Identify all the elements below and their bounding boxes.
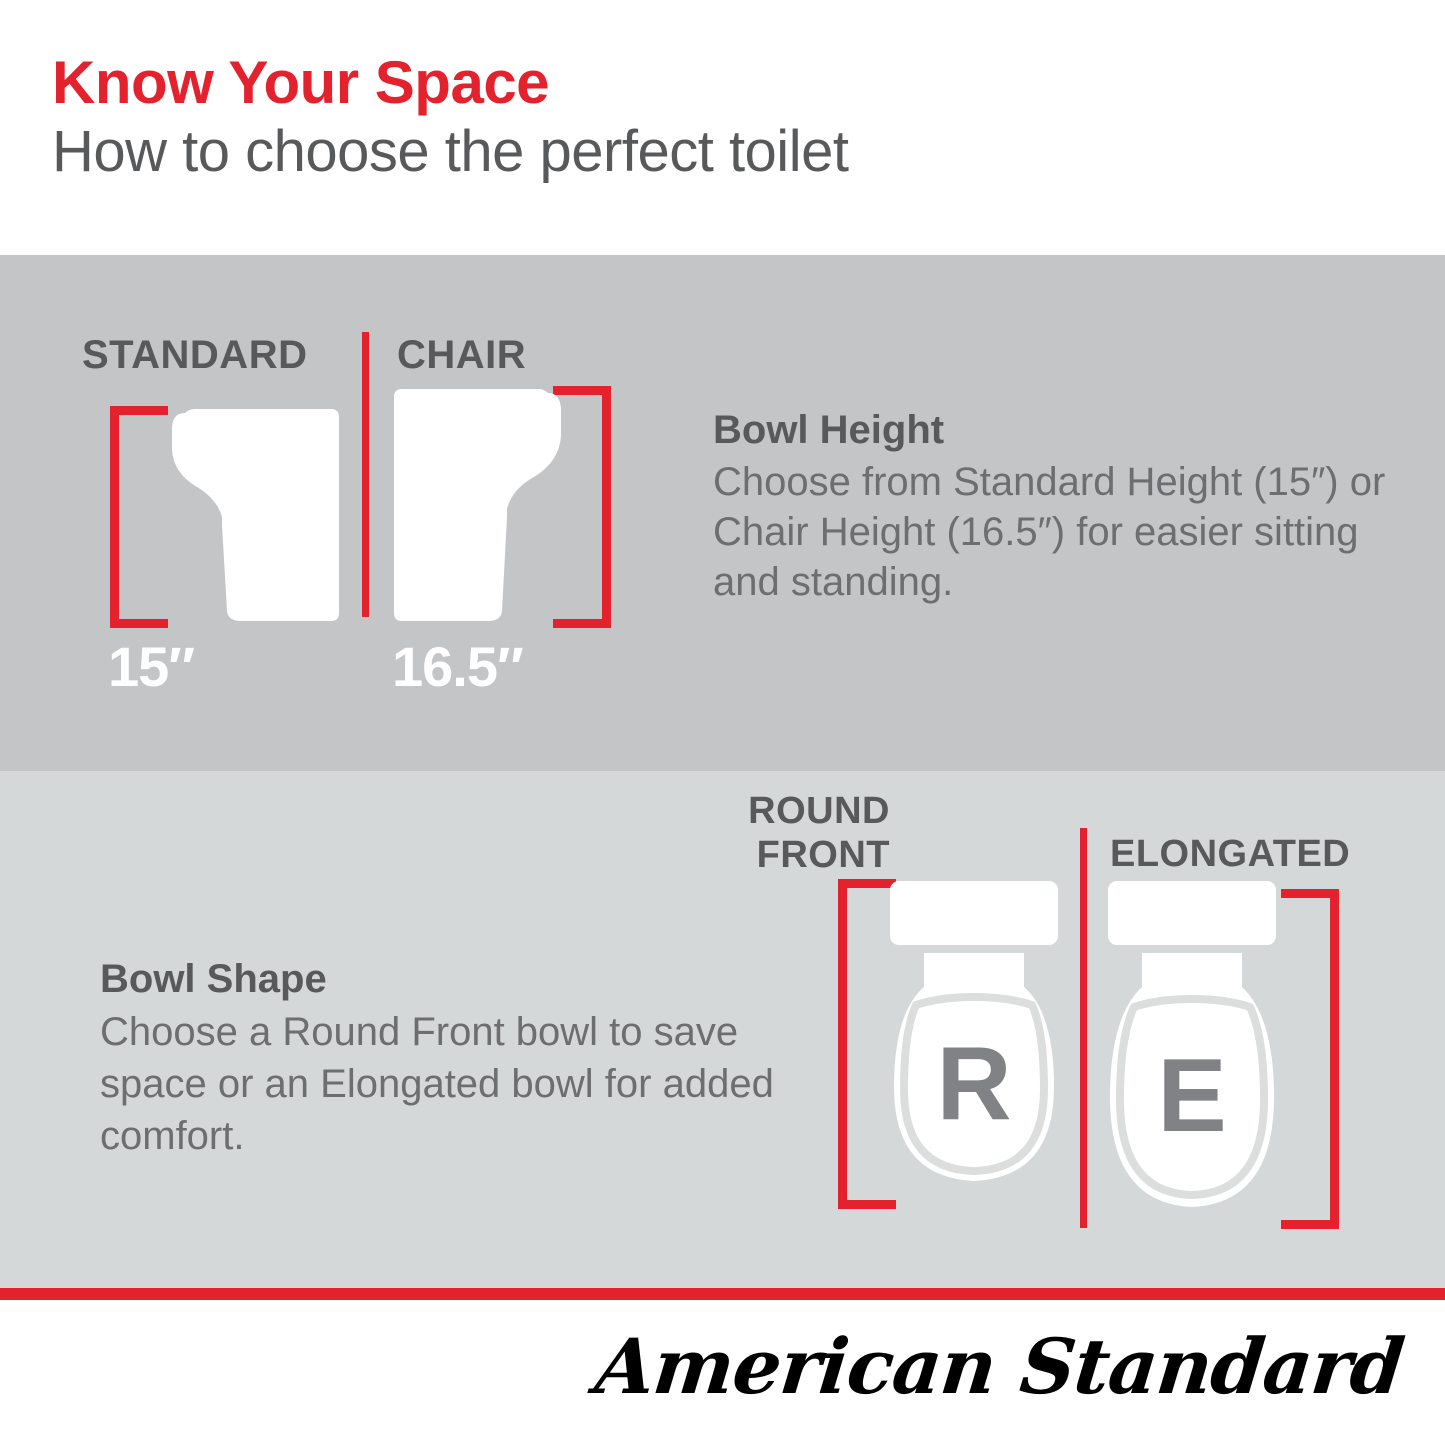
footer-band: American Standard <box>0 1300 1445 1445</box>
bracket-bottom-arm <box>110 619 168 628</box>
height-columns-divider <box>362 332 369 617</box>
round-front-label-line1: ROUND <box>748 789 890 833</box>
chair-toilet-side-profile-icon <box>393 385 568 629</box>
round-front-label: ROUND FRONT <box>748 789 890 877</box>
bowl-height-info: Bowl Height Choose from Standard Height … <box>713 408 1403 607</box>
standard-height-label: STANDARD <box>82 333 307 378</box>
standard-toilet-side-profile-icon <box>165 405 340 629</box>
elongated-toilet-top-view-icon: E <box>1100 881 1284 1223</box>
bowl-shape-description: Choose a Round Front bowl to save space … <box>100 1006 780 1162</box>
elongated-bowl-letter: E <box>1157 1038 1226 1154</box>
chair-height-measurement: 16.5″ <box>392 634 523 699</box>
header-band: Know Your Space How to choose the perfec… <box>0 0 1445 255</box>
page-title: Know Your Space <box>52 48 549 117</box>
elongated-bracket <box>1277 889 1339 1229</box>
round-front-label-line2: FRONT <box>748 833 890 877</box>
shape-columns-divider <box>1080 828 1087 1228</box>
bracket-top-arm <box>1281 889 1339 898</box>
page-subtitle: How to choose the perfect toilet <box>52 118 848 185</box>
bracket-vertical-stroke <box>602 386 611 628</box>
standard-height-bracket <box>110 406 172 628</box>
bowl-height-title: Bowl Height <box>713 408 1403 453</box>
bracket-vertical-stroke <box>110 406 119 628</box>
bowl-shape-title: Bowl Shape <box>100 957 780 1002</box>
bowl-height-section: STANDARD CHAIR 15″ 16.5″ Bowl Hei <box>0 255 1445 771</box>
bracket-vertical-stroke <box>1330 889 1339 1229</box>
bracket-vertical-stroke <box>838 879 847 1209</box>
bowl-shape-info: Bowl Shape Choose a Round Front bowl to … <box>100 957 780 1162</box>
bowl-height-description: Choose from Standard Height (15″) or Cha… <box>713 457 1403 607</box>
elongated-label: ELONGATED <box>1110 833 1350 876</box>
bracket-top-arm <box>110 406 168 415</box>
infographic-page: Know Your Space How to choose the perfec… <box>0 0 1445 1445</box>
standard-height-measurement: 15″ <box>108 634 194 699</box>
american-standard-logo: American Standard <box>591 1322 1407 1411</box>
bracket-bottom-arm <box>1281 1220 1339 1229</box>
bowl-shape-section: Bowl Shape Choose a Round Front bowl to … <box>0 771 1445 1288</box>
bracket-bottom-arm <box>838 1200 896 1209</box>
round-front-bowl-letter: R <box>936 1026 1011 1142</box>
chair-height-label: CHAIR <box>397 333 526 378</box>
footer-red-rule <box>0 1288 1445 1300</box>
round-front-toilet-top-view-icon: R <box>882 881 1066 1201</box>
